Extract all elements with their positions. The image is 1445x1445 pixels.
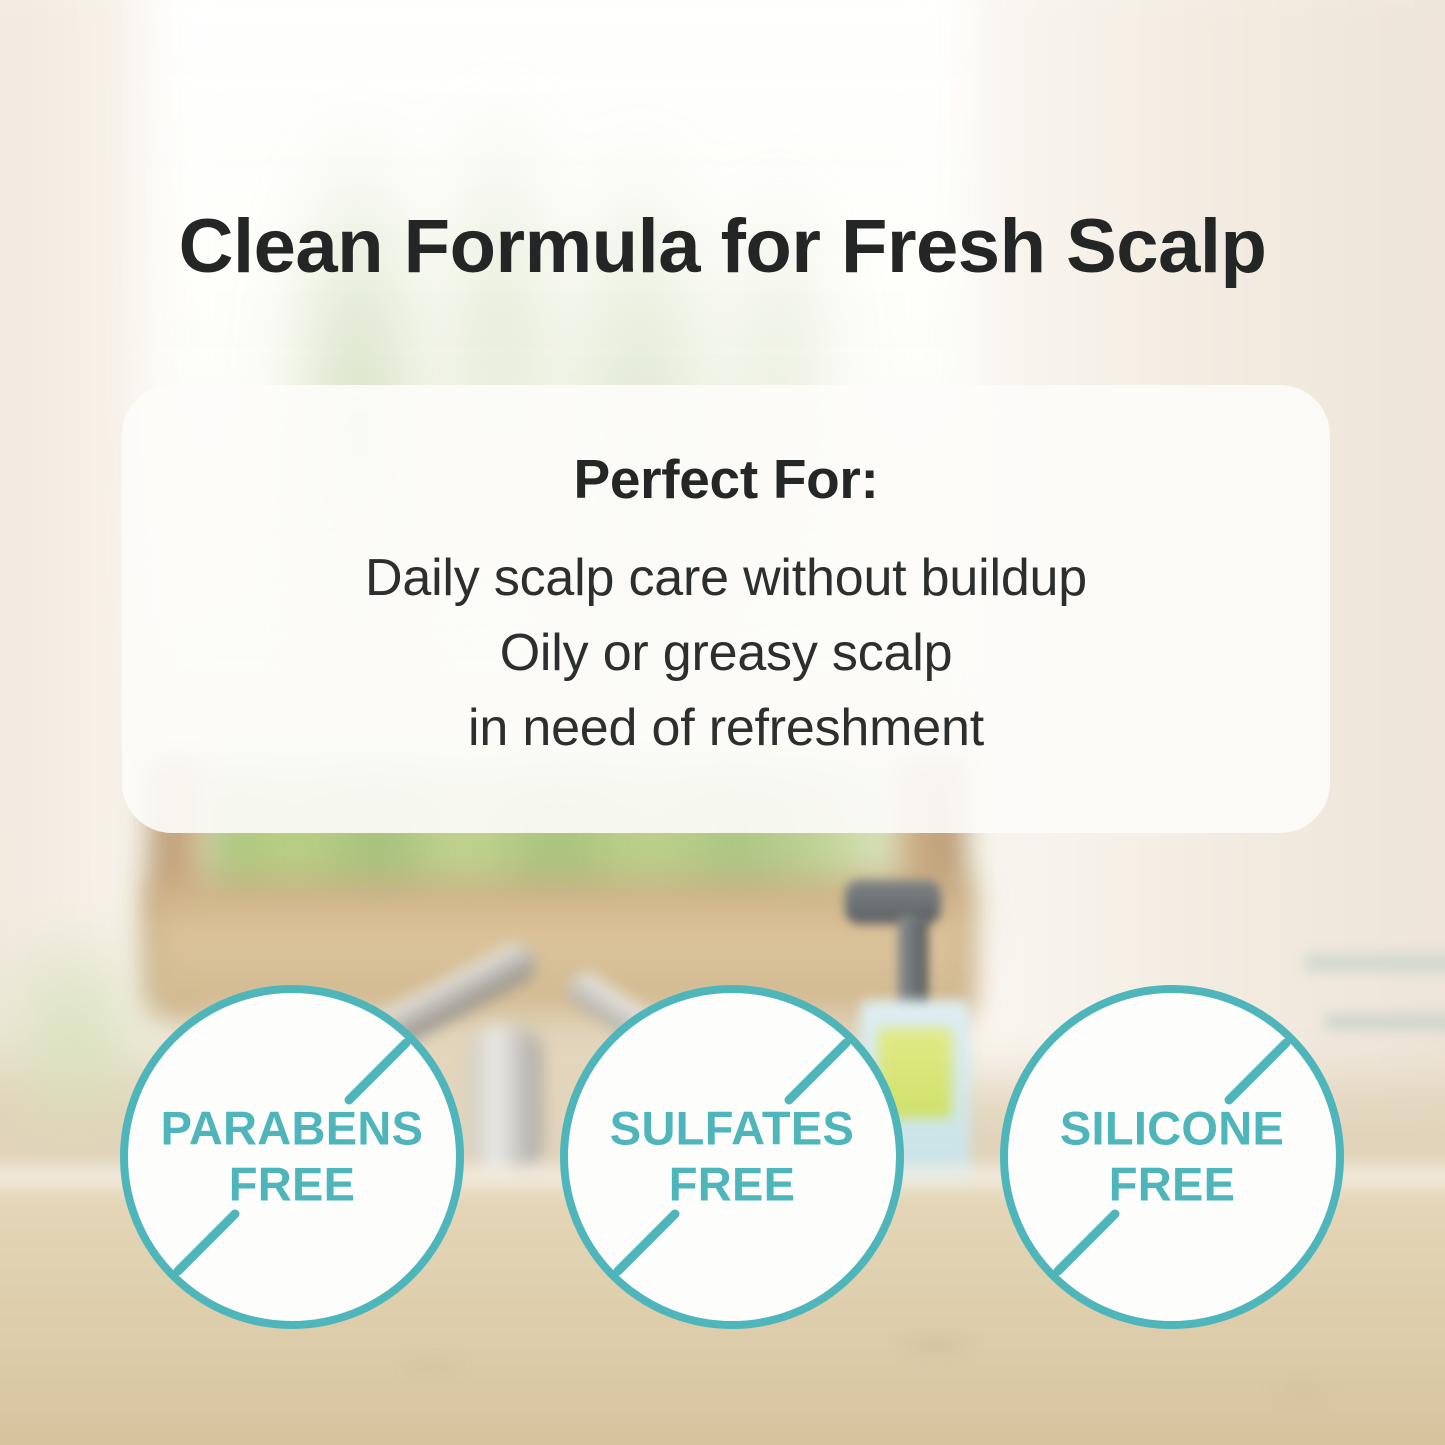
prohibition-icon (558, 983, 906, 1331)
badge-parabens-free: PARABENS FREE (118, 983, 466, 1331)
prohibition-icon (998, 983, 1346, 1331)
card-line-2: Oily or greasy scalp (192, 616, 1260, 691)
badge-sulfates-free: SULFATES FREE (558, 983, 906, 1331)
prohibition-icon (118, 983, 466, 1331)
background-bottle-pump (845, 880, 941, 924)
badge-silicone-free: SILICONE FREE (998, 983, 1346, 1331)
page-title: Clean Formula for Fresh Scalp (0, 206, 1445, 288)
perfect-for-card: Perfect For: Daily scalp care without bu… (122, 385, 1330, 833)
card-line-3: in need of refreshment (192, 691, 1260, 766)
product-infographic: Clean Formula for Fresh Scalp Perfect Fo… (0, 0, 1445, 1445)
card-heading: Perfect For: (192, 447, 1260, 511)
free-from-badges: PARABENS FREE SULFATES FREE SILICONE (0, 983, 1445, 1343)
background-shelf-upper (1305, 955, 1445, 971)
card-line-1: Daily scalp care without buildup (192, 541, 1260, 616)
